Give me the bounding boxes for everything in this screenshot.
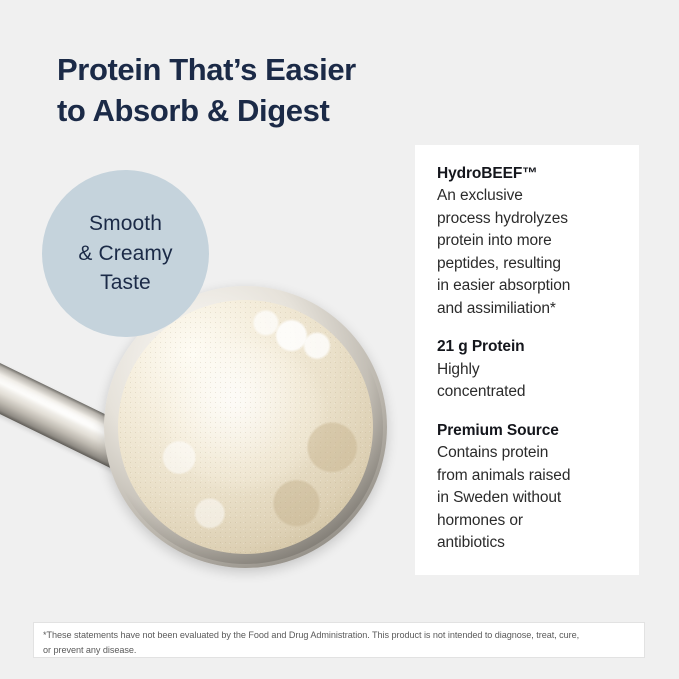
powder-grain-texture	[118, 300, 373, 554]
badge-label-line-1: Smooth	[78, 209, 172, 239]
disclaimer-line-2: or prevent any disease.	[43, 643, 636, 658]
feature-block-hydrobeef: HydroBEEF™ An exclusive process hydrolyz…	[437, 163, 620, 320]
feature-body-line: antibiotics	[437, 532, 620, 554]
feature-block-protein-amount: 21 g Protein Highly concentrated	[437, 336, 620, 403]
feature-body: Contains protein from animals raised in …	[437, 442, 620, 554]
feature-body: An exclusive process hydrolyzes protein …	[437, 185, 620, 320]
feature-body-line: protein into more	[437, 230, 620, 252]
feature-body-line: hormones or	[437, 510, 620, 532]
page-title-line-2: to Absorb & Digest	[57, 91, 417, 132]
disclaimer-line-1: *These statements have not been evaluate…	[43, 628, 636, 643]
feature-body-line: concentrated	[437, 381, 620, 403]
badge-label: Smooth & Creamy Taste	[78, 209, 172, 298]
feature-body-line: and assimiliation*	[437, 298, 620, 320]
feature-title: 21 g Protein	[437, 336, 620, 358]
feature-body-line: in Sweden without	[437, 487, 620, 509]
feature-body-line: Contains protein	[437, 442, 620, 464]
feature-body-line: in easier absorption	[437, 275, 620, 297]
feature-title: Premium Source	[437, 420, 620, 442]
feature-body-line: from animals raised	[437, 465, 620, 487]
feature-title: HydroBEEF™	[437, 163, 620, 185]
badge-label-line-2: & Creamy	[78, 239, 172, 269]
feature-block-premium-source: Premium Source Contains protein from ani…	[437, 420, 620, 555]
feature-body-line: peptides, resulting	[437, 253, 620, 275]
page-title: Protein That’s Easier to Absorb & Digest	[57, 50, 417, 132]
disclaimer-text: *These statements have not been evaluate…	[43, 628, 636, 657]
feature-body: Highly concentrated	[437, 359, 620, 404]
disclaimer-box: *These statements have not been evaluate…	[33, 622, 645, 658]
badge-label-line-3: Taste	[78, 268, 172, 298]
protein-powder	[118, 300, 373, 554]
smooth-creamy-taste-badge: Smooth & Creamy Taste	[42, 170, 209, 337]
product-infographic: Protein That’s Easier to Absorb & Digest…	[0, 0, 679, 679]
feature-body-line: Highly	[437, 359, 620, 381]
feature-body-line: An exclusive	[437, 185, 620, 207]
page-title-line-1: Protein That’s Easier	[57, 50, 417, 91]
feature-panel: HydroBEEF™ An exclusive process hydrolyz…	[415, 145, 639, 575]
feature-body-line: process hydrolyzes	[437, 208, 620, 230]
